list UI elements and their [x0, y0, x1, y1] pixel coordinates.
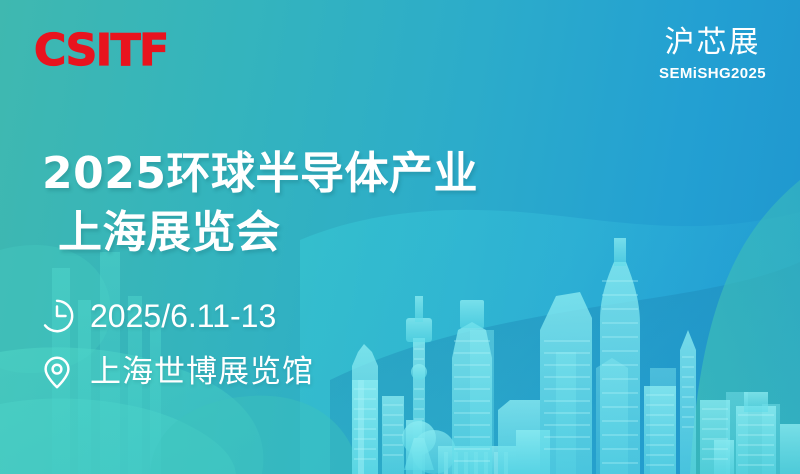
location-pin-icon — [38, 353, 76, 391]
event-info: 2025/6.11-13 上海世博展览馆 — [38, 288, 314, 400]
page-title: 2025环球半导体产业 上海展览会 — [42, 145, 478, 261]
brand-name-en: SEMiSHG2025 — [659, 63, 766, 84]
headline-line-2: 上海展览会 — [42, 204, 478, 262]
skyline-silhouette — [352, 238, 800, 474]
event-venue: 上海世博展览馆 — [90, 357, 314, 388]
blob-bottom-center — [150, 396, 360, 474]
event-banner: CSITF 沪芯展 SEMiSHG2025 2025环球半导体产业 上海展览会 … — [0, 0, 800, 474]
corner-curve-bottom-right — [690, 180, 800, 474]
brand-block: 沪芯展 SEMiSHG2025 — [659, 26, 766, 84]
event-date: 2025/6.11-13 — [90, 300, 276, 332]
blob-left-lower-2 — [0, 398, 236, 474]
wave-shape-dark — [330, 262, 800, 474]
clock-icon — [38, 297, 76, 335]
event-date-row: 2025/6.11-13 — [38, 288, 314, 344]
skyline-back-row — [470, 330, 780, 474]
event-venue-row: 上海世博展览馆 — [38, 344, 314, 400]
skyline-window-stripes — [354, 280, 774, 466]
csitf-logo: CSITF — [34, 29, 168, 73]
headline-line-1: 2025环球半导体产业 — [42, 148, 478, 199]
brand-name-cn: 沪芯展 — [659, 26, 766, 60]
